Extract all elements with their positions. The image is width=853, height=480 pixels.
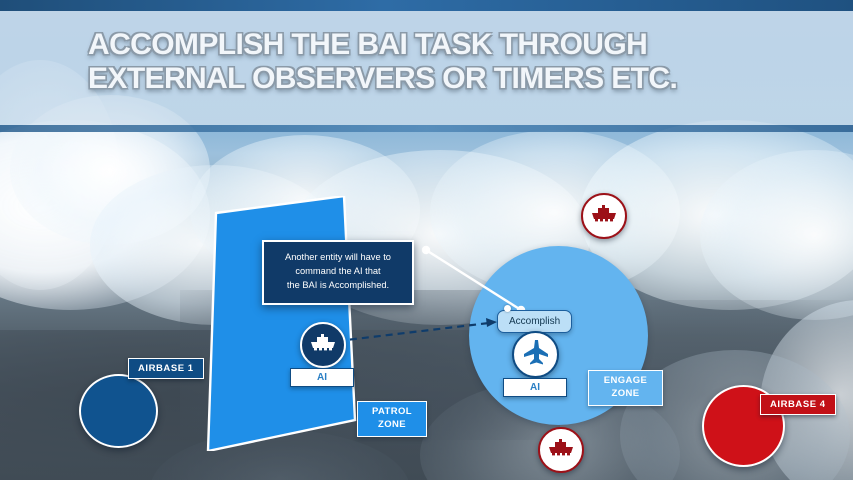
airbase-1-label: AIRBASE 1 [128,358,204,379]
enemy-vehicle-north-unit[interactable] [581,193,627,239]
patrol-zone-shape[interactable] [205,196,365,451]
ship-icon [310,334,336,356]
slide-canvas: ACCOMPLISH THE BAI TASK THROUGH EXTERNAL… [0,0,853,480]
top-accent-bar [0,0,853,11]
airbase-1-circle[interactable] [79,374,158,448]
engage-zone-label: ENGAGE ZONE [588,370,663,406]
callout-text: Another entity will have to command the … [273,251,403,293]
ai-ship-label: AI [290,368,354,387]
patrol-zone-label: PATROL ZONE [357,401,427,437]
airbase-4-label: AIRBASE 4 [760,394,836,415]
ai-aircraft-label: AI [503,378,567,397]
callout-box: Another entity will have to command the … [262,240,414,305]
armored-vehicle-icon [548,439,574,461]
ai-aircraft-unit[interactable] [512,331,559,378]
enemy-vehicle-south-unit[interactable] [538,427,584,473]
slide-title: ACCOMPLISH THE BAI TASK THROUGH EXTERNAL… [88,28,788,96]
ai-ship-unit[interactable] [300,322,346,368]
title-band-underline [0,125,853,132]
accomplish-chip-handle[interactable] [504,305,511,312]
accomplish-chip[interactable]: Accomplish [497,310,572,333]
armored-vehicle-icon [591,205,617,227]
aircraft-icon [522,339,550,370]
